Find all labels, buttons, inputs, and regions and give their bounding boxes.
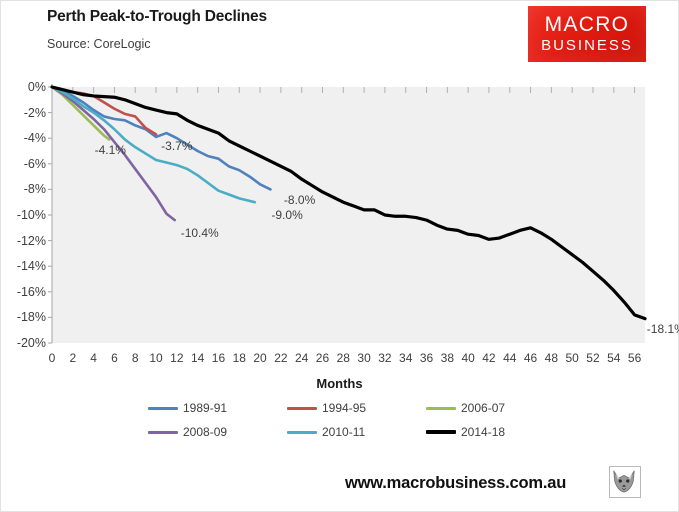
fox-head-icon (609, 466, 641, 498)
x-tick-label: 36 (420, 351, 433, 365)
x-tick-label: 54 (607, 351, 620, 365)
x-tick-label: 14 (191, 351, 204, 365)
x-tick-label: 22 (274, 351, 287, 365)
y-tick-label: -18% (2, 310, 46, 324)
x-tick-label: 0 (49, 351, 56, 365)
legend-swatch-2006-07 (426, 407, 456, 410)
y-tick-label: -6% (2, 157, 46, 171)
x-tick-label: 44 (503, 351, 516, 365)
legend-swatch-1989-91 (148, 407, 178, 410)
legend-item-2008-09[interactable]: 2008-09 (148, 425, 227, 439)
y-tick-label: -14% (2, 259, 46, 273)
x-tick-label: 4 (90, 351, 97, 365)
x-tick-label: 38 (441, 351, 454, 365)
y-tick-label: -8% (2, 182, 46, 196)
x-tick-label: 30 (357, 351, 370, 365)
footer-url: www.macrobusiness.com.au (345, 474, 566, 493)
x-tick-label: 34 (399, 351, 412, 365)
x-tick-label: 6 (111, 351, 118, 365)
y-tick-label: 0% (2, 80, 46, 94)
x-tick-label: 48 (545, 351, 558, 365)
x-tick-label: 40 (461, 351, 474, 365)
legend-item-2014-18[interactable]: 2014-18 (426, 425, 505, 439)
y-tick-label: -16% (2, 285, 46, 299)
y-tick-label: -20% (2, 336, 46, 350)
x-tick-label: 12 (170, 351, 183, 365)
legend-swatch-2014-18 (426, 430, 456, 434)
legend-label: 2008-09 (183, 425, 227, 439)
x-tick-label: 2 (69, 351, 76, 365)
x-tick-label: 56 (628, 351, 641, 365)
legend-label: 1989-91 (183, 401, 227, 415)
data-label: -18.1% (647, 322, 679, 336)
legend-label: 2014-18 (461, 425, 505, 439)
x-tick-label: 32 (378, 351, 391, 365)
legend-item-1994-95[interactable]: 1994-95 (287, 401, 366, 415)
x-tick-label: 46 (524, 351, 537, 365)
y-tick-label: -12% (2, 234, 46, 248)
legend-item-1989-91[interactable]: 1989-91 (148, 401, 227, 415)
legend-swatch-2010-11 (287, 431, 317, 434)
data-label: -8.0% (284, 193, 315, 207)
data-label: -10.4% (181, 226, 219, 240)
y-tick-label: -4% (2, 131, 46, 145)
x-tick-label: 28 (337, 351, 350, 365)
series-line-2010-11 (52, 87, 255, 202)
x-tick-label: 18 (233, 351, 246, 365)
x-tick-label: 52 (586, 351, 599, 365)
x-tick-label: 50 (565, 351, 578, 365)
legend-swatch-2008-09 (148, 431, 178, 434)
y-tick-label: -10% (2, 208, 46, 222)
data-label: -4.1% (95, 143, 126, 157)
x-tick-label: 10 (149, 351, 162, 365)
data-label: -9.0% (271, 208, 302, 222)
chart-legend: 1989-911994-952006-072008-092010-112014-… (148, 401, 540, 449)
y-tick-label: -2% (2, 106, 46, 120)
legend-label: 1994-95 (322, 401, 366, 415)
x-axis-title: Months (0, 376, 679, 391)
legend-item-2010-11[interactable]: 2010-11 (287, 425, 365, 439)
legend-item-2006-07[interactable]: 2006-07 (426, 401, 505, 415)
x-tick-label: 24 (295, 351, 308, 365)
x-tick-label: 26 (316, 351, 329, 365)
data-label: -3.7% (161, 139, 192, 153)
x-tick-label: 8 (132, 351, 139, 365)
x-tick-label: 20 (253, 351, 266, 365)
x-tick-label: 42 (482, 351, 495, 365)
legend-label: 2010-11 (322, 425, 365, 439)
legend-swatch-1994-95 (287, 407, 317, 410)
legend-label: 2006-07 (461, 401, 505, 415)
x-tick-label: 16 (212, 351, 225, 365)
